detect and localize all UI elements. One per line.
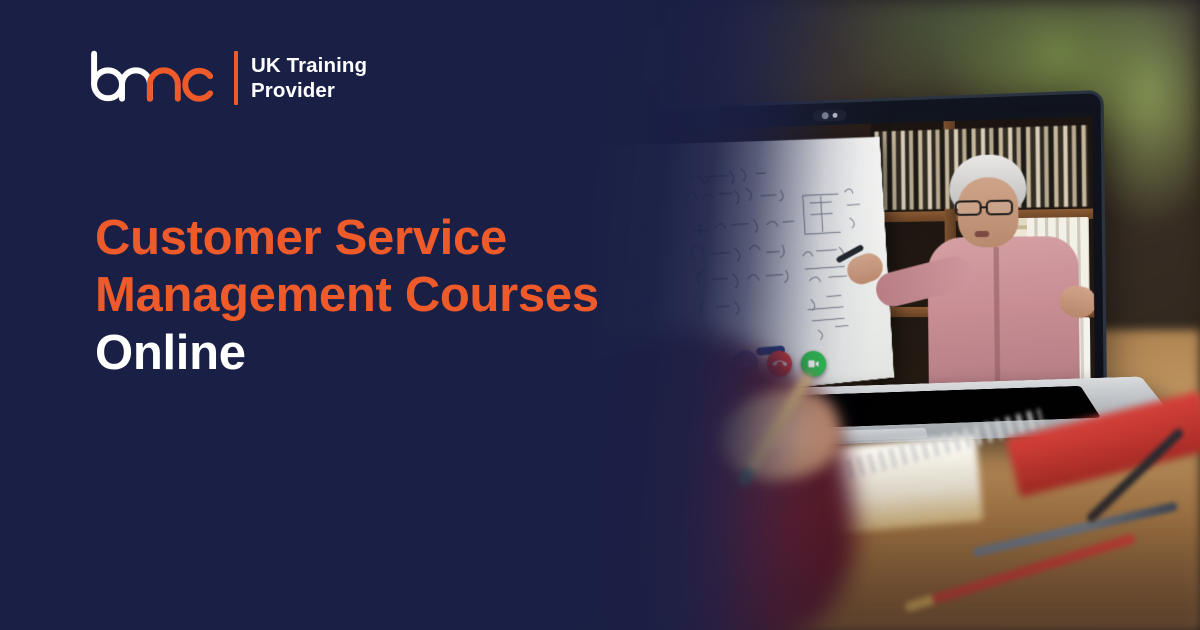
brand-tagline: UK Training Provider [251,53,367,103]
promo-banner: UK Training Provider Customer Service Ma… [0,0,1200,630]
headline-line-2: Management Courses [95,267,715,324]
brand-tagline-line2: Provider [251,78,367,103]
page-title: Customer Service Management Courses Onli… [95,210,715,382]
headline-line-1: Customer Service [95,210,715,267]
brand-logo[interactable]: UK Training Provider [86,48,367,108]
brand-tagline-line1: UK Training [251,53,367,78]
banner-content: UK Training Provider Customer Service Ma… [0,0,1200,630]
headline-line-3: Online [95,325,715,382]
vertical-divider-icon [234,51,238,105]
bmc-wordmark-icon [86,48,221,108]
